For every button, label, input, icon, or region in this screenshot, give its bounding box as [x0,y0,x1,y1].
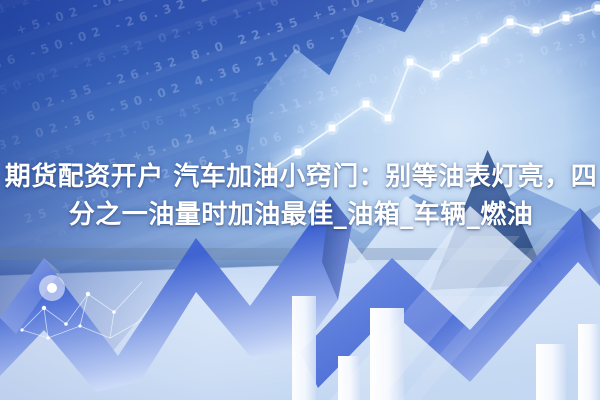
banner-title-line-1: 期货配资开户 汽车加油小窍门：别等油表灯亮，四 [0,158,600,196]
bar-chart-icon-center [292,296,316,400]
network-nodes-icon [18,268,148,348]
chart-bar [578,324,600,400]
chart-bar [536,344,566,400]
banner-title-line-2: 分之一油量时加油最佳_油箱_车辆_燃油 [0,196,600,234]
banner-title: 期货配资开户 汽车加油小窍门：别等油表灯亮，四 分之一油量时加油最佳_油箱_车辆… [0,158,600,234]
stock-banner-image: -00.35 +21.06 45.02 -11.25 +5.02 -02.36 … [0,0,600,400]
